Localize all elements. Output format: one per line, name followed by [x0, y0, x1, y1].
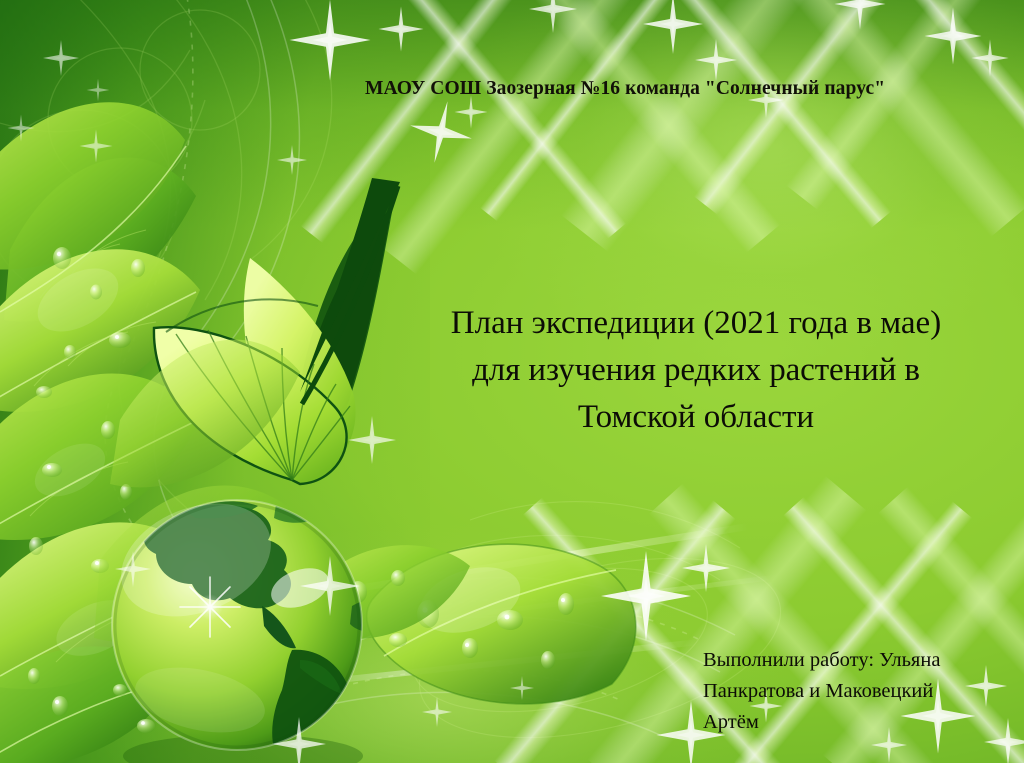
author-line-3: Артём — [703, 707, 1003, 738]
title-line-3: Томской области — [392, 394, 1000, 441]
slide-bottom-edge — [0, 763, 1024, 767]
slide-header-text: МАОУ СОШ Заозерная №16 команда "Солнечны… — [365, 78, 885, 100]
author-line-1: Выполнили работу: Ульяна — [703, 645, 1003, 676]
author-line-2: Панкратова и Маковецкий — [703, 676, 1003, 707]
slide-title: План экспедиции (2021 года в мае) для из… — [392, 300, 1000, 441]
presentation-slide: МАОУ СОШ Заозерная №16 команда "Солнечны… — [0, 0, 1024, 767]
title-line-2: для изучения редких растений в — [392, 347, 1000, 394]
slide-authors: Выполнили работу: Ульяна Панкратова и Ма… — [703, 645, 1003, 738]
title-line-1: План экспедиции (2021 года в мае) — [392, 300, 1000, 347]
